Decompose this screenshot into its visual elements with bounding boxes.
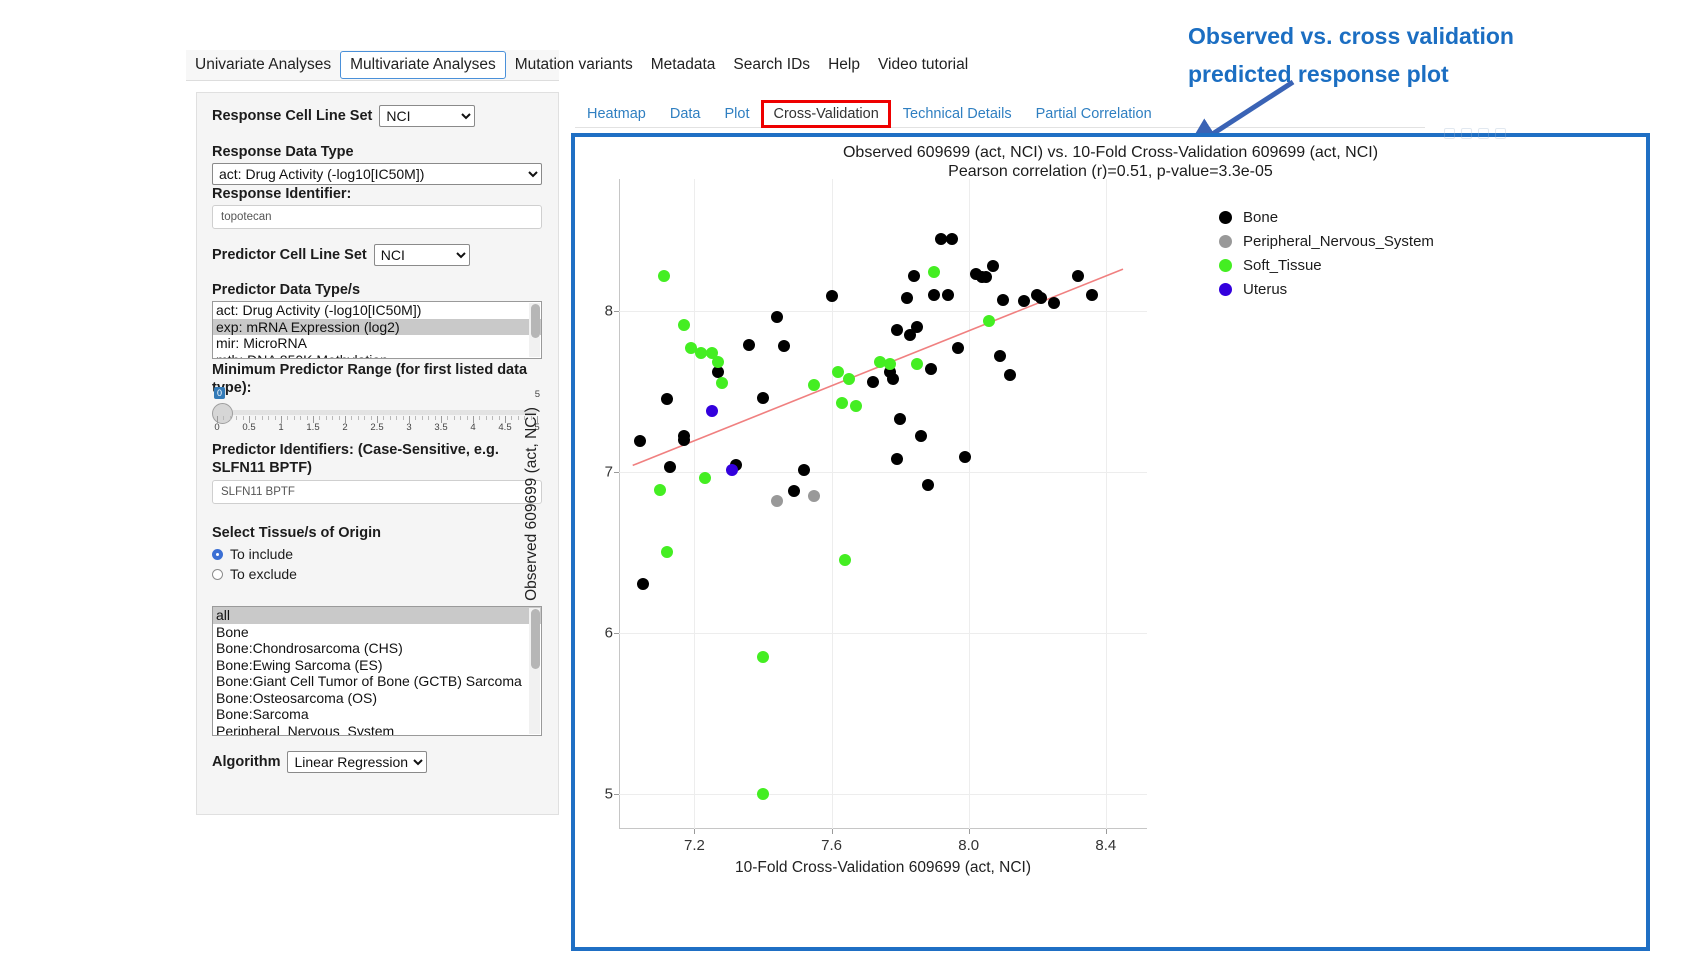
axis-tick (832, 829, 833, 834)
tab-plot[interactable]: Plot (712, 102, 761, 126)
response-data-type-select[interactable]: act: Drug Activity (-log10[IC50M]) (212, 163, 542, 185)
slider-value-bubble: 0 (214, 387, 225, 399)
scatter-point[interactable] (1035, 292, 1047, 304)
axis-tick (1106, 829, 1107, 834)
slider-tick (371, 416, 372, 420)
response-identifier-label: Response Identifier: (212, 185, 351, 203)
slider-tick-label: 4 (470, 422, 475, 433)
slider-tick (460, 416, 461, 420)
radio-label: To include (230, 546, 293, 562)
list-item[interactable]: all (213, 607, 541, 624)
radio-icon[interactable] (212, 549, 223, 560)
y-axis-tick-label: 6 (605, 624, 613, 641)
predictor-data-types-label: Predictor Data Type/s (212, 281, 360, 299)
slider-tick (262, 416, 263, 420)
scatter-point[interactable] (771, 311, 783, 323)
scatter-point[interactable] (788, 485, 800, 497)
slider-tick (332, 416, 333, 420)
slider-handle[interactable] (212, 403, 233, 424)
radio-to-exclude[interactable]: To exclude (212, 566, 297, 582)
scatter-point[interactable] (716, 377, 728, 389)
callout-line-1: Observed vs. cross validation (1188, 17, 1588, 55)
slider-tick (339, 416, 340, 420)
slider-tick (275, 416, 276, 420)
scatter-point[interactable] (808, 379, 820, 391)
algorithm-label: Algorithm (212, 754, 280, 770)
y-axis-tick-label: 8 (605, 302, 613, 319)
scatter-point[interactable] (1018, 295, 1030, 307)
y-axis-label: Observed 609699 (act, NCI) (523, 407, 541, 601)
slider-tick-label: 1 (278, 422, 283, 433)
predictor-cell-line-set-select[interactable]: NCI (374, 244, 470, 266)
scatter-point[interactable] (997, 294, 1009, 306)
slider-tick (479, 416, 480, 420)
scatter-point[interactable] (726, 464, 738, 476)
nav-tab-multivariate-analyses[interactable]: Multivariate Analyses (340, 51, 506, 79)
algorithm-select[interactable]: Linear Regression (287, 751, 427, 773)
slider-tick-label: 4.5 (498, 422, 511, 433)
plot-title-block: Observed 609699 (act, NCI) vs. 10-Fold C… (575, 143, 1646, 181)
scatter-point[interactable] (678, 434, 690, 446)
slider-tick (415, 416, 416, 420)
list-item[interactable]: Bone:Chondrosarcoma (CHS) (213, 640, 541, 657)
response-identifier-input[interactable] (212, 205, 542, 229)
slider-tick (467, 416, 468, 420)
scatter-point[interactable] (757, 392, 769, 404)
slider-tick (255, 416, 256, 420)
nav-tab-univariate-analyses[interactable]: Univariate Analyses (186, 51, 340, 79)
slider-tick (287, 416, 288, 420)
slider-tick (319, 416, 320, 420)
slider-tick-label: 1.5 (306, 422, 319, 433)
scatter-point[interactable] (843, 373, 855, 385)
scatter-point[interactable] (952, 342, 964, 354)
legend-label: Uterus (1243, 281, 1287, 298)
response-cell-line-set-select[interactable]: NCI (379, 105, 475, 127)
scatter-point[interactable] (894, 413, 906, 425)
main-nav-tabs: Univariate Analyses Multivariate Analyse… (186, 50, 977, 80)
scatter-point[interactable] (887, 373, 899, 385)
response-data-type-label: Response Data Type (212, 143, 354, 161)
response-cell-line-set-group: Response Cell Line Set NCI (212, 105, 475, 127)
list-item[interactable]: exp: mRNA Expression (log2) (213, 319, 541, 336)
scatter-point[interactable] (911, 358, 923, 370)
legend-swatch-icon (1219, 259, 1232, 272)
scatter-point[interactable] (1072, 270, 1084, 282)
slider-tick (230, 416, 231, 420)
plot-modebar[interactable] (1444, 128, 1506, 139)
scatter-point[interactable] (994, 350, 1006, 362)
x-axis-tick-label: 7.6 (821, 837, 842, 854)
scatter-point[interactable] (922, 479, 934, 491)
list-item[interactable]: Bone:Ewing Sarcoma (ES) (213, 657, 541, 674)
radio-to-include[interactable]: To include (212, 546, 297, 562)
scatter-point[interactable] (980, 271, 992, 283)
slider-tick (223, 416, 224, 420)
slider-tick (454, 416, 455, 420)
slider-tick (403, 416, 404, 420)
legend-swatch-icon (1219, 211, 1232, 224)
scatter-point[interactable] (678, 319, 690, 331)
slider-tick (326, 416, 327, 420)
nav-tab-help[interactable]: Help (819, 51, 869, 79)
slider-tick-label: 2 (342, 422, 347, 433)
scatter-point[interactable] (901, 292, 913, 304)
tissue-section-label: Select Tissue/s of Origin (212, 524, 381, 542)
predictor-cell-line-set-label: Predictor Cell Line Set (212, 247, 367, 263)
list-item[interactable]: Peripheral_Nervous_System (213, 723, 541, 737)
scatter-point[interactable] (908, 270, 920, 282)
scatter-point[interactable] (778, 340, 790, 352)
slider-tick (294, 416, 295, 420)
slider-tick-label: 3 (406, 422, 411, 433)
min-predictor-range-slider[interactable]: 0 5 00.511.522.533.544.55 (212, 389, 542, 437)
legend-label: Soft_Tissue (1243, 257, 1322, 274)
list-item[interactable]: Bone:Sarcoma (213, 706, 541, 723)
scatter-point[interactable] (661, 393, 673, 405)
scatter-point[interactable] (808, 490, 820, 502)
legend-label: Bone (1243, 209, 1278, 226)
scatter-point[interactable] (884, 358, 896, 370)
tab-data[interactable]: Data (658, 102, 713, 126)
scatter-point[interactable] (911, 321, 923, 333)
scatter-point[interactable] (1004, 369, 1016, 381)
tab-cross-validation[interactable]: Cross-Validation (761, 100, 890, 128)
x-axis-label: 10-Fold Cross-Validation 609699 (act, NC… (735, 859, 1031, 877)
scatter-point[interactable] (757, 788, 769, 800)
slider-tick (351, 416, 352, 420)
slider-tick-label: 0 (214, 422, 219, 433)
y-axis-tick-label: 5 (605, 785, 613, 802)
slider-tick (428, 416, 429, 420)
scatter-point[interactable] (959, 451, 971, 463)
scatter-point[interactable] (1048, 297, 1060, 309)
predictor-identifiers-input[interactable] (212, 480, 542, 504)
slider-track[interactable] (217, 410, 537, 415)
slider-tick (486, 416, 487, 420)
response-cell-line-set-label: Response Cell Line Set (212, 108, 372, 124)
trendline-svg (619, 179, 1147, 829)
slider-tick-label: 2.5 (370, 422, 383, 433)
list-item[interactable]: mir: MicroRNA (213, 335, 541, 352)
scatter-point[interactable] (946, 233, 958, 245)
scatter-point[interactable] (1086, 289, 1098, 301)
scatter-point[interactable] (712, 356, 724, 368)
slider-tick (268, 416, 269, 420)
slider-tick (499, 416, 500, 420)
listbox-scroll-thumb[interactable] (531, 304, 540, 338)
legend-item-soft-tissue[interactable]: Soft_Tissue (1219, 253, 1434, 277)
scatter-point[interactable] (654, 484, 666, 496)
controls-sidebar: Response Cell Line Set NCI Response Data… (196, 92, 559, 815)
predictor-data-types-listbox[interactable]: act: Drug Activity (-log10[IC50M]) exp: … (212, 301, 542, 359)
scatter-point[interactable] (798, 464, 810, 476)
legend-item-peripheral-nervous-system[interactable]: Peripheral_Nervous_System (1219, 229, 1434, 253)
scatter-point[interactable] (839, 554, 851, 566)
scatter-point[interactable] (634, 435, 646, 447)
slider-tick (447, 416, 448, 420)
list-item[interactable]: mth: DNA 850K Methylation (213, 352, 541, 360)
radio-icon[interactable] (212, 569, 223, 580)
x-axis-tick-label: 8.4 (1095, 837, 1116, 854)
scatter-point[interactable] (891, 324, 903, 336)
slider-tick (435, 416, 436, 420)
scatter-point[interactable] (699, 472, 711, 484)
slider-tick (236, 416, 237, 420)
axis-tick (969, 829, 970, 834)
predictor-cell-line-set-group: Predictor Cell Line Set NCI (212, 244, 470, 266)
scatter-point[interactable] (925, 363, 937, 375)
zoom-icon[interactable] (1461, 128, 1472, 139)
slider-tick (243, 416, 244, 420)
scatter-point[interactable] (757, 651, 769, 663)
legend-item-bone[interactable]: Bone (1219, 205, 1434, 229)
slider-tick (492, 416, 493, 420)
scatter-point[interactable] (987, 260, 999, 272)
content-tabs: Heatmap Data Plot Cross-Validation Techn… (575, 100, 1164, 128)
nav-tab-video-tutorial[interactable]: Video tutorial (869, 51, 977, 79)
scatter-point[interactable] (836, 397, 848, 409)
algorithm-group: Algorithm Linear Regression (212, 751, 427, 773)
axis-tick (694, 829, 695, 834)
scatter-point[interactable] (891, 453, 903, 465)
slider-tick-label: 3.5 (434, 422, 447, 433)
slider-tick (307, 416, 308, 420)
slider-tick (383, 416, 384, 420)
cross-validation-plot-panel: Observed 609699 (act, NCI) vs. 10-Fold C… (571, 133, 1650, 951)
scatter-point[interactable] (928, 266, 940, 278)
plot-axes: 56787.27.68.08.4 Observed 609699 (act, N… (619, 179, 1147, 829)
pan-icon[interactable] (1478, 128, 1489, 139)
autoscale-icon[interactable] (1495, 128, 1506, 139)
predictor-identifiers-label: Predictor Identifiers: (Case-Sensitive, … (212, 441, 542, 477)
tissue-radio-group: To include To exclude (212, 546, 297, 586)
y-axis-tick-label: 7 (605, 463, 613, 480)
scatter-point[interactable] (706, 405, 718, 417)
slider-tick (364, 416, 365, 420)
scatter-point[interactable] (658, 270, 670, 282)
tissue-listbox[interactable]: all Bone Bone:Chondrosarcoma (CHS) Bone:… (212, 606, 542, 736)
listbox-scroll-thumb[interactable] (531, 609, 540, 669)
radio-label: To exclude (230, 566, 297, 582)
tab-technical-details[interactable]: Technical Details (891, 102, 1024, 126)
slider-max-label: 5 (535, 389, 540, 400)
camera-icon[interactable] (1444, 128, 1455, 139)
scatter-point[interactable] (942, 289, 954, 301)
list-item[interactable]: Bone:Osteosarcoma (OS) (213, 690, 541, 707)
legend-swatch-icon (1219, 235, 1232, 248)
nav-tab-search-ids[interactable]: Search IDs (724, 51, 819, 79)
list-item[interactable]: Bone:Giant Cell Tumor of Bone (GCTB) Sar… (213, 673, 541, 690)
nav-tab-mutation-variants[interactable]: Mutation variants (506, 51, 642, 79)
nav-tab-metadata[interactable]: Metadata (642, 51, 725, 79)
x-axis-tick-label: 8.0 (958, 837, 979, 854)
scatter-point[interactable] (928, 289, 940, 301)
legend-label: Peripheral_Nervous_System (1243, 233, 1434, 250)
slider-tick (518, 416, 519, 420)
scatter-point[interactable] (771, 495, 783, 507)
tab-partial-correlation[interactable]: Partial Correlation (1024, 102, 1164, 126)
page-title: Observed 609699 (act, NCI) vs. 10-Fold C… (575, 143, 1646, 162)
scatter-point[interactable] (983, 315, 995, 327)
plot-legend: Bone Peripheral_Nervous_System Soft_Tiss… (1219, 205, 1434, 301)
scatter-point[interactable] (915, 430, 927, 442)
scatter-point[interactable] (743, 339, 755, 351)
scatter-point[interactable] (867, 376, 879, 388)
tab-heatmap[interactable]: Heatmap (575, 102, 658, 126)
scatter-point[interactable] (661, 546, 673, 558)
slider-tick (511, 416, 512, 420)
scatter-point[interactable] (850, 400, 862, 412)
legend-item-uterus[interactable]: Uterus (1219, 277, 1434, 301)
slider-tick-label: 0.5 (242, 422, 255, 433)
list-item[interactable]: Bone (213, 624, 541, 641)
slider-tick (358, 416, 359, 420)
scatter-point[interactable] (637, 578, 649, 590)
slider-tick (300, 416, 301, 420)
list-item[interactable]: act: Drug Activity (-log10[IC50M]) (213, 302, 541, 319)
slider-tick (396, 416, 397, 420)
scatter-point[interactable] (826, 290, 838, 302)
slider-tick (390, 416, 391, 420)
slider-tick (422, 416, 423, 420)
scatter-point[interactable] (664, 461, 676, 473)
x-axis-tick-label: 7.2 (684, 837, 705, 854)
legend-swatch-icon (1219, 283, 1232, 296)
